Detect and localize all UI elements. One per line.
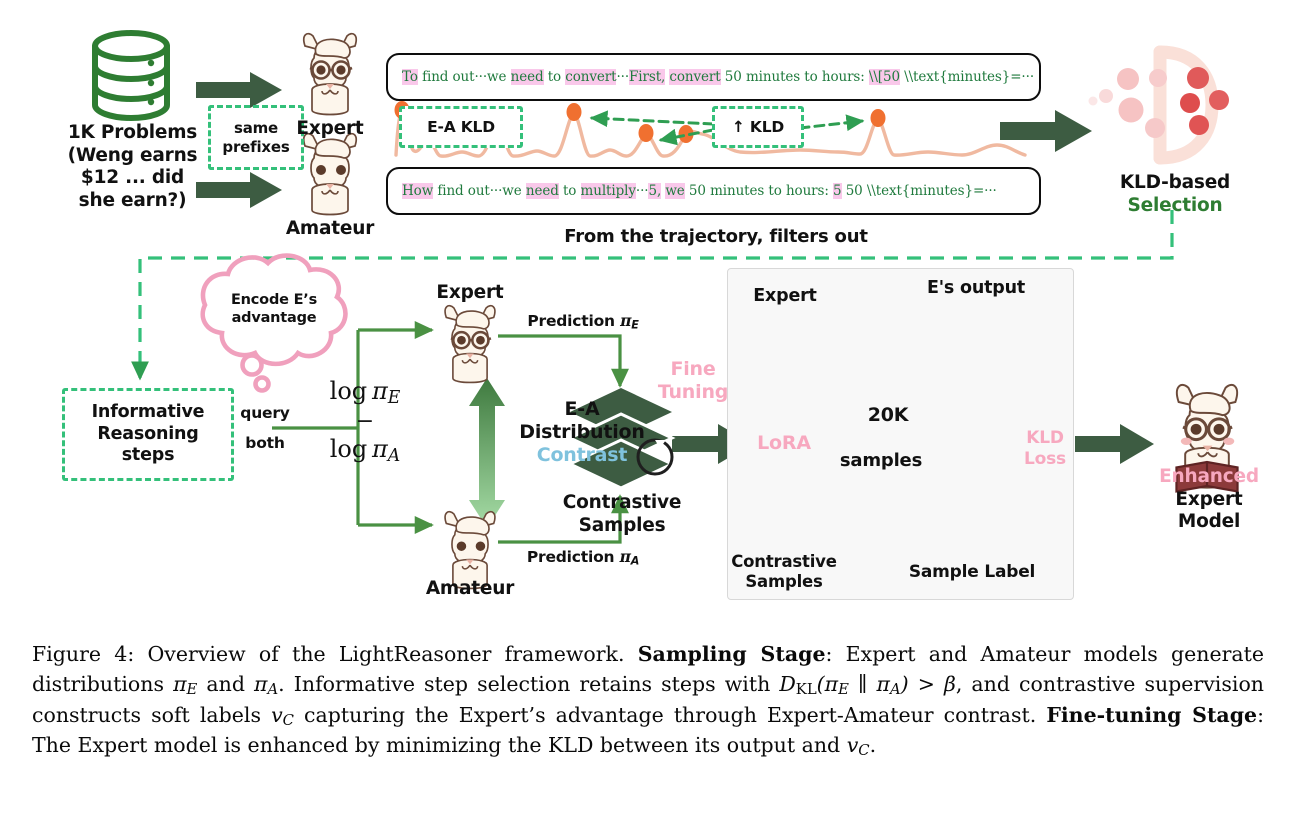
amateur-label-finetune: Amateur	[414, 578, 526, 601]
highlighted-token: How	[402, 183, 433, 199]
plain-token: ···	[636, 183, 649, 199]
dataset-label-line1: 1K Problems	[30, 122, 235, 145]
plain-token: 50 minutes to hours:	[721, 69, 869, 85]
selection-label: KLD-based Selection	[1095, 172, 1255, 217]
query-label: query	[228, 404, 302, 423]
thought-bubble-text: Encode E’s advantage	[210, 292, 338, 327]
kld-loss-line1: KLD	[1016, 428, 1074, 449]
plain-token: ···	[616, 69, 629, 85]
informative-steps-box: Informative Reasoning steps	[62, 388, 234, 481]
dataset-label: 1K Problems (Weng earns $12 ... did she …	[30, 122, 235, 212]
es-output-title: E's output	[912, 278, 1040, 299]
highlighted-token: convert	[669, 69, 720, 85]
caption-m4: vC	[271, 703, 294, 727]
plain-token: find out···we	[418, 69, 511, 85]
amateur-label-sampling: Amateur	[280, 218, 380, 241]
highlighted-token: First,	[629, 69, 665, 85]
informative-line3: steps	[92, 445, 205, 466]
high-kld-box: ↑ KLD	[712, 106, 804, 148]
cs-panel-line1: Contrastive	[726, 552, 842, 572]
caption-m2: πA	[254, 672, 278, 696]
cs-main-line1: Contrastive	[556, 492, 688, 515]
samples-word: samples	[838, 450, 924, 472]
highlighted-token: To	[402, 69, 418, 85]
highlighted-token: multiply	[581, 183, 636, 199]
contrast-line2: Distribution	[500, 421, 664, 444]
filter-caption: From the trajectory, filters out	[446, 226, 986, 248]
fine-tuning-line1: Fine	[650, 358, 736, 381]
arrow-curve-to-selection	[1000, 110, 1092, 152]
figure-caption: Figure 4: Overview of the LightReasoner …	[32, 640, 1264, 762]
lora-label: LoRA	[742, 432, 826, 455]
caption-m5: vC	[847, 733, 870, 757]
caption-b1: Sampling Stage	[638, 642, 826, 666]
figure-diagram: 1K Problems (Weng earns $12 ... did she …	[0, 0, 1297, 620]
caption-m1: πE	[173, 672, 197, 696]
thought-bubble-line2: advantage	[210, 310, 338, 328]
ea-kld-box: E-A KLD	[399, 106, 523, 148]
plain-token: find out···we	[433, 183, 526, 199]
prediction-a-label: Prediction πA	[498, 548, 668, 568]
arrow-dataset-to-expert	[196, 72, 282, 108]
plain-token: to	[559, 183, 581, 199]
amateur-sequence-text: How find out···we need to multiply···5, …	[388, 183, 997, 199]
plain-token: 50 \\text{minutes}=···	[842, 183, 997, 199]
enhanced-line3: Model	[1150, 511, 1268, 534]
enhanced-line2: Expert	[1150, 489, 1268, 512]
enhanced-line1: Enhanced	[1150, 466, 1268, 489]
selection-label-line2: Selection	[1095, 195, 1255, 218]
highlighted-token: 5	[833, 183, 842, 199]
funnel-filter-icon	[1089, 52, 1230, 158]
caption-p3: and	[197, 672, 254, 696]
prediction-e-label: Prediction πE	[498, 312, 668, 332]
expert-label-panel: Expert	[738, 286, 832, 307]
high-kld-label: ↑ KLD	[732, 118, 784, 137]
highlighted-token: need	[526, 183, 559, 199]
plain-token: 50 minutes to hours:	[685, 183, 833, 199]
contrastive-samples-label-panel: Contrastive Samples	[726, 552, 842, 592]
fine-tuning-line2: Tuning	[650, 381, 736, 404]
cs-panel-line2: Samples	[726, 572, 842, 592]
distribution-contrast-label: E-A Distribution Contrast	[500, 398, 664, 468]
informative-line1: Informative	[92, 402, 205, 423]
samples-count: 20K	[858, 404, 918, 427]
highlighted-token: need	[511, 69, 544, 85]
contrast-line3: Contrast	[500, 444, 664, 467]
highlighted-token: we	[665, 183, 684, 199]
ea-kld-label: E-A KLD	[427, 118, 495, 137]
expert-sequence-text: To find out···we need to convert···First…	[388, 69, 1034, 85]
thought-bubble-line1: Encode E’s	[210, 292, 338, 310]
minus-sign: −	[306, 410, 424, 434]
expert-prediction-connector	[498, 336, 620, 386]
plain-token: to	[544, 69, 566, 85]
plain-token: \\text{minutes}=···	[900, 69, 1034, 85]
informative-line2: Reasoning	[92, 424, 205, 445]
highlighted-token: 5,	[648, 183, 661, 199]
amateur-sequence-box: How find out···we need to multiply···5, …	[386, 167, 1041, 215]
sample-label-title: Sample Label	[908, 562, 1036, 583]
selection-label-line1: KLD-based	[1095, 172, 1255, 195]
log-pi-a: log πA	[306, 436, 424, 466]
contrastive-samples-label-main: Contrastive Samples	[556, 492, 688, 537]
caption-p1: Figure 4: Overview of the LightReasoner …	[32, 642, 638, 666]
dataset-label-line2: (Weng earns	[30, 145, 235, 168]
log-ratio-expression: log πE − log πA	[306, 378, 424, 466]
caption-m3: DKL(πE ∥ πA) > β	[779, 672, 955, 696]
highlighted-token: convert	[565, 69, 616, 85]
fine-tuning-label: Fine Tuning	[650, 358, 736, 404]
kld-loss-line2: Loss	[1016, 449, 1074, 470]
cs-main-line2: Samples	[556, 515, 688, 538]
expert-sequence-box: To find out···we need to convert···First…	[386, 53, 1041, 101]
caption-p8: .	[870, 733, 877, 757]
database-icon	[95, 33, 167, 118]
expert-label-sampling: Expert	[280, 118, 380, 141]
expert-label-finetune: Expert	[414, 282, 526, 305]
kld-loss-label: KLD Loss	[1016, 428, 1074, 469]
highlighted-token: \\[50	[869, 69, 900, 85]
dataset-label-line3: $12 ... did	[30, 167, 235, 190]
llama-expert-finetune-icon	[432, 300, 508, 388]
log-pi-e: log πE	[306, 378, 424, 408]
arrow-panel-to-enhanced	[1075, 424, 1154, 464]
dataset-label-line4: she earn?)	[30, 190, 235, 213]
contrast-line1: E-A	[500, 398, 664, 421]
caption-p4: . Informative step selection retains ste…	[278, 672, 779, 696]
enhanced-expert-label: Enhanced Expert Model	[1150, 466, 1268, 534]
caption-b2: Fine-tuning Stage	[1046, 703, 1257, 727]
both-label: both	[228, 434, 302, 453]
caption-p6: capturing the Expert’s advantage through…	[294, 703, 1046, 727]
